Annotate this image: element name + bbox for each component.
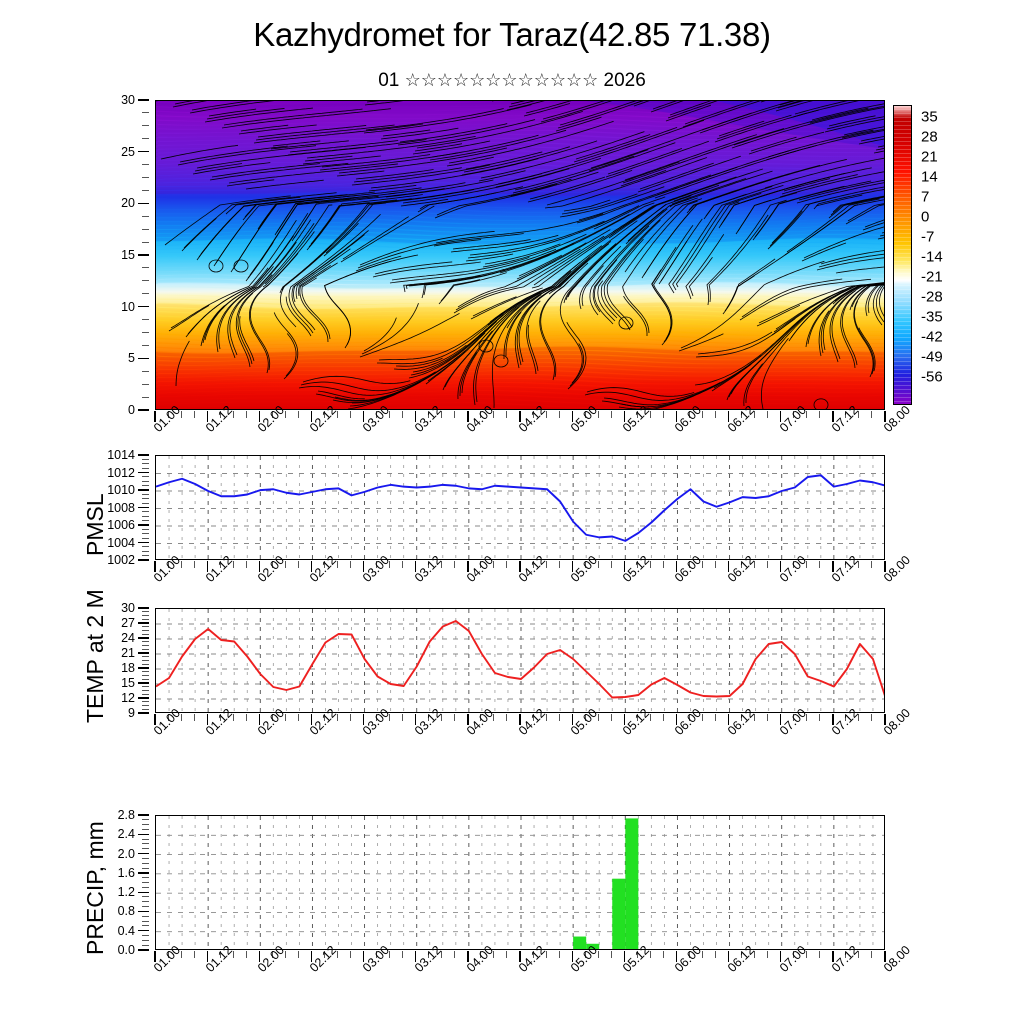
axis-minor-tick [142, 498, 149, 499]
axis-minor-tick [506, 561, 507, 568]
colorbar-tick-label: -42 [921, 329, 943, 346]
colorbar-tick-label: 7 [921, 189, 929, 206]
axis-tick [138, 682, 149, 683]
axis-minor-tick [142, 877, 149, 878]
axis-minor-tick [142, 242, 149, 243]
subtitle-month-glyphs: ☆☆☆☆☆☆☆☆☆☆☆☆ [405, 70, 599, 90]
axis-minor-tick [142, 906, 149, 907]
axis-minor-tick [350, 411, 351, 418]
axis-minor-tick [402, 951, 403, 958]
axis-tick-label: 1002 [107, 553, 135, 567]
colorbar-tick-label: -14 [921, 249, 943, 266]
axis-tick [138, 652, 149, 653]
axis-minor-tick [819, 411, 820, 418]
axis-minor-tick [819, 951, 820, 958]
axis-tick [138, 622, 149, 623]
axis-minor-tick [402, 561, 403, 568]
axis-minor-tick [142, 701, 149, 702]
axis-minor-tick [142, 656, 149, 657]
axis-minor-tick [819, 714, 820, 721]
cross-section-x-axis: 01.0001.1202.0002.1203.0003.1204.0004.12… [155, 411, 885, 457]
axis-minor-tick [298, 561, 299, 568]
axis-minor-tick [142, 705, 149, 706]
axis-minor-tick [454, 561, 455, 568]
axis-tick-label: 0.0 [118, 943, 135, 957]
colorbar-bands [894, 106, 911, 404]
axis-minor-tick [142, 511, 149, 512]
axis-minor-tick [454, 411, 455, 418]
axis-minor-tick [142, 503, 149, 504]
axis-minor-tick [142, 481, 149, 482]
axis-minor-tick [611, 714, 612, 721]
axis-minor-tick [142, 690, 149, 691]
axis-tick-label: 15 [121, 676, 135, 690]
axis-minor-tick [142, 485, 149, 486]
axis-minor-tick [142, 675, 149, 676]
axis-minor-tick [142, 125, 149, 126]
axis-tick [138, 712, 149, 713]
axis-minor-tick [246, 714, 247, 721]
axis-tick [138, 472, 149, 473]
axis-tick [138, 507, 149, 508]
axis-minor-tick [819, 561, 820, 568]
colorbar-tick-label: 35 [921, 109, 938, 126]
axis-minor-tick [142, 641, 149, 642]
axis-minor-tick [142, 709, 149, 710]
axis-minor-tick [767, 714, 768, 721]
axis-minor-tick [871, 411, 872, 418]
temp-x-axis: 01.0001.1202.0002.1203.0003.1204.0004.12… [155, 714, 885, 760]
axis-minor-tick [298, 714, 299, 721]
colorbar[interactable] [893, 105, 912, 405]
axis-minor-tick [767, 561, 768, 568]
axis-tick-label: 21 [121, 646, 135, 660]
axis-minor-tick [142, 660, 149, 661]
axis-minor-tick [142, 887, 149, 888]
axis-minor-tick [142, 164, 149, 165]
axis-minor-tick [142, 494, 149, 495]
colorbar-labels: 3528211470-7-14-21-28-35-42-49-56 [921, 105, 981, 405]
axis-minor-tick [142, 921, 149, 922]
axis-minor-tick [142, 538, 149, 539]
axis-minor-tick [142, 293, 149, 294]
axis-minor-tick [142, 267, 149, 268]
axis-tick [138, 254, 149, 255]
axis-minor-tick [142, 468, 149, 469]
axis-minor-tick [142, 551, 149, 552]
temp-y-axis: 912151821242730 [105, 608, 149, 713]
axis-tick [138, 834, 149, 835]
axis-minor-tick [142, 138, 149, 139]
axis-minor-tick [142, 634, 149, 635]
axis-tick-label: 0.4 [118, 924, 135, 938]
axis-minor-tick [142, 868, 149, 869]
colorbar-tick-label: 28 [921, 129, 938, 146]
axis-minor-tick [142, 679, 149, 680]
axis-tick [138, 607, 149, 608]
axis-minor-tick [611, 561, 612, 568]
axis-minor-tick [142, 611, 149, 612]
axis-tick [138, 306, 149, 307]
axis-tick [138, 667, 149, 668]
axis-tick [138, 358, 149, 359]
axis-minor-tick [142, 645, 149, 646]
axis-tick [138, 454, 149, 455]
axis-minor-tick [142, 280, 149, 281]
precip-x-axis: 01.0001.1202.0002.1203.0003.1204.0004.12… [155, 951, 885, 997]
axis-minor-tick [350, 714, 351, 721]
axis-minor-tick [142, 630, 149, 631]
axis-tick-label: 08.00 [881, 553, 913, 585]
axis-tick [138, 697, 149, 698]
page-title: Kazhydromet for Taraz(42.85 71.38) [0, 16, 1024, 54]
pmsl-canvas [156, 456, 885, 560]
axis-minor-tick [506, 714, 507, 721]
axis-minor-tick [142, 615, 149, 616]
axis-minor-tick [142, 619, 149, 620]
axis-minor-tick [142, 882, 149, 883]
colorbar-tick-label: -7 [921, 229, 934, 246]
axis-minor-tick [142, 858, 149, 859]
axis-minor-tick [246, 411, 247, 418]
axis-minor-tick [454, 714, 455, 721]
axis-minor-tick [246, 561, 247, 568]
axis-minor-tick [506, 411, 507, 418]
axis-tick [138, 872, 149, 873]
axis-tick-label: 08.00 [881, 403, 913, 435]
cross-section-plot[interactable] [155, 100, 885, 410]
axis-minor-tick [142, 533, 149, 534]
axis-tick [138, 930, 149, 931]
axis-minor-tick [142, 546, 149, 547]
axis-minor-tick [142, 516, 149, 517]
axis-tick-label: 1012 [107, 466, 135, 480]
axis-minor-tick [142, 463, 149, 464]
axis-minor-tick [350, 951, 351, 958]
axis-tick-label: 5 [128, 351, 135, 365]
axis-minor-tick [559, 714, 560, 721]
axis-minor-tick [715, 714, 716, 721]
axis-minor-tick [506, 951, 507, 958]
axis-minor-tick [611, 411, 612, 418]
axis-tick [138, 524, 149, 525]
cross-section-y-axis: 051015202530 [105, 100, 149, 410]
axis-minor-tick [142, 555, 149, 556]
axis-minor-tick [142, 626, 149, 627]
axis-tick [138, 542, 149, 543]
axis-tick-label: 24 [121, 631, 135, 645]
axis-minor-tick [142, 824, 149, 825]
temp-plot[interactable] [155, 608, 885, 713]
axis-tick [138, 814, 149, 815]
axis-tick [138, 559, 149, 560]
colorbar-tick-label: -35 [921, 309, 943, 326]
axis-minor-tick [142, 112, 149, 113]
axis-tick-label: 1.6 [118, 866, 135, 880]
axis-tick [138, 99, 149, 100]
axis-minor-tick [194, 561, 195, 568]
axis-minor-tick [194, 714, 195, 721]
axis-minor-tick [871, 561, 872, 568]
axis-minor-tick [454, 951, 455, 958]
axis-minor-tick [715, 951, 716, 958]
axis-minor-tick [559, 951, 560, 958]
axis-minor-tick [142, 229, 149, 230]
axis-minor-tick [142, 945, 149, 946]
axis-minor-tick [402, 411, 403, 418]
axis-minor-tick [402, 714, 403, 721]
axis-tick-label: 12 [121, 691, 135, 705]
axis-tick-label: 2.0 [118, 847, 135, 861]
colorbar-tick-label: -56 [921, 369, 943, 386]
axis-minor-tick [871, 951, 872, 958]
axis-minor-tick [142, 384, 149, 385]
axis-minor-tick [246, 951, 247, 958]
axis-minor-tick [663, 561, 664, 568]
axis-minor-tick [142, 216, 149, 217]
axis-minor-tick [142, 819, 149, 820]
pmsl-y-axis: 1002100410061008101010121014 [105, 455, 149, 560]
temp-canvas [156, 609, 885, 713]
axis-tick-label: 30 [121, 93, 135, 107]
axis-tick [138, 489, 149, 490]
axis-minor-tick [663, 951, 664, 958]
colorbar-tick-label: 14 [921, 169, 938, 186]
axis-minor-tick [142, 649, 149, 650]
axis-tick [138, 637, 149, 638]
axis-tick [138, 892, 149, 893]
axis-minor-tick [350, 561, 351, 568]
colorbar-tick-label: -28 [921, 289, 943, 306]
axis-minor-tick [871, 714, 872, 721]
axis-tick-label: 1010 [107, 483, 135, 497]
axis-minor-tick [663, 411, 664, 418]
axis-tick-label: 25 [121, 145, 135, 159]
axis-minor-tick [142, 177, 149, 178]
subtitle-date: 01 ☆☆☆☆☆☆☆☆☆☆☆☆ 2026 [0, 70, 1024, 92]
axis-minor-tick [142, 916, 149, 917]
axis-tick-label: 0 [128, 403, 135, 417]
axis-tick-label: 1008 [107, 501, 135, 515]
axis-minor-tick [142, 476, 149, 477]
subtitle-year: 2026 [604, 70, 646, 91]
axis-tick-label: 30 [121, 601, 135, 615]
axis-minor-tick [142, 901, 149, 902]
axis-minor-tick [142, 664, 149, 665]
axis-tick-label: 1014 [107, 448, 135, 462]
colorbar-tick-label: 0 [921, 209, 929, 226]
axis-tick-label: 0.8 [118, 904, 135, 918]
axis-tick [138, 853, 149, 854]
precip-canvas [156, 816, 885, 950]
axis-tick-label: 20 [121, 196, 135, 210]
precip-y-axis: 0.00.40.81.21.62.02.42.8 [105, 815, 149, 950]
axis-tick-label: 08.00 [881, 943, 913, 975]
axis-tick-label: 2.8 [118, 808, 135, 822]
axis-minor-tick [142, 459, 149, 460]
colorbar-tick-label: 21 [921, 149, 938, 166]
axis-minor-tick [142, 520, 149, 521]
subtitle-day: 01 [378, 70, 399, 91]
axis-minor-tick [715, 411, 716, 418]
axis-minor-tick [142, 925, 149, 926]
axis-tick [138, 911, 149, 912]
axis-tick [138, 151, 149, 152]
pmsl-x-axis: 01.0001.1202.0002.1203.0003.1204.0004.12… [155, 561, 885, 607]
axis-minor-tick [142, 319, 149, 320]
axis-minor-tick [194, 411, 195, 418]
axis-minor-tick [142, 863, 149, 864]
axis-minor-tick [142, 843, 149, 844]
axis-tick-label: 10 [121, 300, 135, 314]
axis-minor-tick [767, 951, 768, 958]
axis-minor-tick [767, 411, 768, 418]
axis-tick-label: 27 [121, 616, 135, 630]
axis-tick-label: 9 [128, 706, 135, 720]
axis-minor-tick [298, 411, 299, 418]
axis-minor-tick [715, 561, 716, 568]
axis-tick-label: 1006 [107, 518, 135, 532]
cross-section-canvas [156, 101, 885, 410]
axis-tick-label: 18 [121, 661, 135, 675]
axis-minor-tick [142, 397, 149, 398]
axis-minor-tick [142, 371, 149, 372]
axis-minor-tick [142, 686, 149, 687]
axis-minor-tick [142, 935, 149, 936]
colorbar-tick-label: -21 [921, 269, 943, 286]
axis-tick [138, 409, 149, 410]
axis-minor-tick [298, 951, 299, 958]
axis-minor-tick [142, 529, 149, 530]
axis-minor-tick [559, 411, 560, 418]
colorbar-tick-label: -49 [921, 349, 943, 366]
precip-plot[interactable] [155, 815, 885, 950]
axis-minor-tick [142, 190, 149, 191]
axis-minor-tick [611, 951, 612, 958]
axis-tick [138, 203, 149, 204]
axis-minor-tick [559, 561, 560, 568]
axis-tick-label: 15 [121, 248, 135, 262]
axis-minor-tick [142, 671, 149, 672]
axis-minor-tick [663, 714, 664, 721]
axis-minor-tick [142, 839, 149, 840]
axis-tick-label: 08.00 [881, 706, 913, 738]
axis-tick-label: 1004 [107, 536, 135, 550]
axis-minor-tick [142, 345, 149, 346]
axis-minor-tick [142, 848, 149, 849]
pmsl-plot[interactable] [155, 455, 885, 560]
axis-minor-tick [142, 940, 149, 941]
axis-tick-label: 1.2 [118, 885, 135, 899]
axis-minor-tick [142, 896, 149, 897]
axis-tick [138, 949, 149, 950]
axis-minor-tick [142, 829, 149, 830]
axis-minor-tick [142, 694, 149, 695]
axis-minor-tick [142, 332, 149, 333]
axis-tick-label: 2.4 [118, 827, 135, 841]
axis-minor-tick [194, 951, 195, 958]
